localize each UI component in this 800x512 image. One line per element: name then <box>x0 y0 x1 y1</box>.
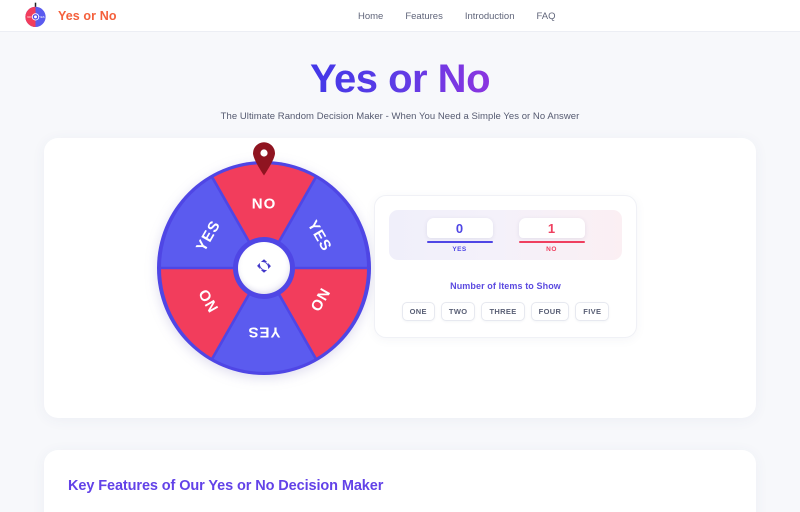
hero-section: Yes or No The Ultimate Random Decision M… <box>0 32 800 122</box>
nav-link-faq[interactable]: FAQ <box>537 11 556 22</box>
controls-card: 0 YES 1 NO Number of Items to Show <box>374 195 637 338</box>
score-no-value: 1 <box>519 222 585 235</box>
score-yes: 0 YES <box>427 218 493 253</box>
main-nav: Home Features Introduction FAQ <box>358 0 556 32</box>
svg-text:YES: YES <box>247 324 280 341</box>
score-yes-value: 0 <box>427 222 493 235</box>
wheel-area: NO YES NO YES NO YES <box>44 138 374 418</box>
controls-area: 0 YES 1 NO Number of Items to Show <box>374 138 756 418</box>
features-title: Key Features of Our Yes or No Decision M… <box>68 478 732 494</box>
page-title: Yes or No <box>310 58 490 100</box>
site-header: NO YES Yes or No Home Features Introduct… <box>0 0 800 32</box>
recycle-spin-icon <box>252 254 276 283</box>
score-strip: 0 YES 1 NO <box>389 210 622 260</box>
svg-text:NO: NO <box>27 15 31 19</box>
features-wrapper: Key Features of Our Yes or No Decision M… <box>0 450 800 512</box>
nav-link-introduction[interactable]: Introduction <box>465 11 515 22</box>
nav-link-features[interactable]: Features <box>405 11 443 22</box>
score-no: 1 NO <box>519 218 585 253</box>
score-yes-label: YES <box>427 246 493 253</box>
nav-link-home[interactable]: Home <box>358 11 383 22</box>
wheel-logo-icon: NO YES <box>22 2 49 29</box>
items-button-one[interactable]: ONE <box>402 302 435 321</box>
wheel-hub-inner <box>238 242 290 294</box>
items-button-two[interactable]: TWO <box>441 302 476 321</box>
items-button-three[interactable]: THREE <box>481 302 524 321</box>
items-button-five[interactable]: FIVE <box>575 302 609 321</box>
score-no-box: 1 <box>519 218 585 238</box>
items-button-four[interactable]: FOUR <box>531 302 570 321</box>
items-count-label: Number of Items to Show <box>389 281 622 291</box>
score-yes-rule <box>427 241 493 243</box>
wheel-panel: NO YES NO YES NO YES <box>44 138 756 418</box>
wheel-spin-button[interactable] <box>233 237 295 299</box>
brand-name: Yes or No <box>58 9 117 23</box>
page-subtitle: The Ultimate Random Decision Maker - Whe… <box>0 111 800 122</box>
svg-text:NO: NO <box>252 196 277 213</box>
features-card: Key Features of Our Yes or No Decision M… <box>44 450 756 512</box>
svg-text:YES: YES <box>39 15 45 19</box>
score-no-rule <box>519 241 585 243</box>
wheel-stage: NO YES NO YES NO YES <box>155 142 373 392</box>
map-pin-pointer-icon <box>251 142 277 176</box>
score-no-label: NO <box>519 246 585 253</box>
brand-logo-link[interactable]: NO YES Yes or No <box>22 2 117 29</box>
score-yes-box: 0 <box>427 218 493 238</box>
items-count-buttons: ONE TWO THREE FOUR FIVE <box>389 302 622 321</box>
wheel-panel-wrapper: NO YES NO YES NO YES <box>0 138 800 418</box>
